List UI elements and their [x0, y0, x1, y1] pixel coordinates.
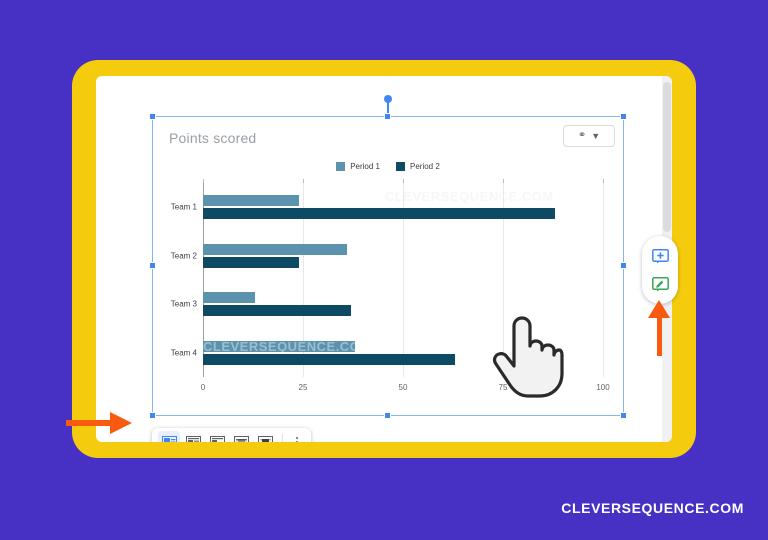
bar-1-series-1 [203, 195, 299, 206]
in-front-of-text-icon [258, 436, 273, 443]
behind-text-icon [234, 436, 249, 443]
bar-group-2: Team 2 [203, 232, 603, 281]
legend-label-1: Period 1 [350, 162, 380, 171]
rotate-handle[interactable] [384, 95, 392, 103]
x-axis-label-25: 25 [299, 383, 308, 392]
chart-title: Points scored [169, 130, 256, 146]
chart-legend: Period 1Period 2 [153, 162, 623, 171]
selection-handle-bottom-center[interactable] [384, 412, 391, 419]
x-axis-label-100: 100 [596, 383, 609, 392]
selection-handle-top-right[interactable] [620, 113, 627, 120]
annotation-arrow-right [644, 300, 674, 361]
scrollbar-thumb[interactable] [663, 82, 671, 232]
behind-text-button[interactable] [230, 431, 252, 442]
link-icon: ⚭ [578, 131, 586, 141]
add-comment-icon [652, 249, 669, 264]
suggest-edit-pencil-icon [652, 277, 669, 292]
selection-handle-bottom-right[interactable] [620, 412, 627, 419]
tick-mark-100 [603, 179, 604, 183]
bar-2-series-2 [203, 257, 299, 268]
y-axis-label-1: Team 1 [171, 203, 197, 212]
arrow-up-pointing-icon [644, 300, 674, 356]
toolbar-separator [282, 434, 283, 442]
break-text-icon [210, 436, 225, 443]
add-comment-button[interactable] [649, 245, 671, 267]
selection-handle-middle-right[interactable] [620, 262, 627, 269]
brand-watermark: CLEVERSEQUENCE.COM [561, 500, 744, 516]
annotation-arrow-left [66, 408, 134, 443]
side-action-buttons[interactable] [642, 236, 678, 304]
legend-item-1: Period 1 [336, 162, 380, 171]
selection-handle-top-center[interactable] [384, 113, 391, 120]
legend-swatch-1 [336, 162, 345, 171]
device-frame: Points scored ⚭ ▼ Period 1Period 2 CLEVE… [72, 60, 696, 458]
in-front-of-text-button[interactable] [254, 431, 276, 442]
y-axis-label-3: Team 3 [171, 300, 197, 309]
x-axis-label-50: 50 [399, 383, 408, 392]
bar-1-series-2 [203, 208, 555, 219]
wrap-text-button[interactable] [182, 431, 204, 442]
wrap-inline-button[interactable] [158, 431, 180, 442]
chevron-down-icon: ▼ [591, 132, 600, 141]
arrow-right-pointing-icon [66, 408, 134, 438]
more-image-options-button[interactable] [289, 431, 305, 442]
suggest-edit-button[interactable] [649, 273, 671, 295]
chart-watermark-bottom: CLEVERSEQUENCE.COM [203, 339, 372, 354]
selection-handle-top-left[interactable] [149, 113, 156, 120]
bar-3-series-1 [203, 292, 255, 303]
bar-2-series-1 [203, 244, 347, 255]
bar-3-series-2 [203, 305, 351, 316]
y-axis-label-4: Team 4 [171, 348, 197, 357]
wrap-text-icon [186, 436, 201, 443]
bar-group-1: Team 1 [203, 183, 603, 232]
legend-swatch-2 [396, 162, 405, 171]
selection-handle-bottom-left[interactable] [149, 412, 156, 419]
bar-4-series-2 [203, 354, 455, 365]
legend-label-2: Period 2 [410, 162, 440, 171]
pointing-hand-icon [492, 312, 564, 398]
hand-pointer-cursor [492, 312, 564, 403]
document-canvas[interactable]: Points scored ⚭ ▼ Period 1Period 2 CLEVE… [96, 76, 672, 442]
legend-item-2: Period 2 [396, 162, 440, 171]
chart-link-chip[interactable]: ⚭ ▼ [563, 125, 615, 147]
gridline-100 [603, 183, 604, 377]
image-options-toolbar[interactable] [152, 428, 311, 442]
selection-handle-middle-left[interactable] [149, 262, 156, 269]
break-text-button[interactable] [206, 431, 228, 442]
y-axis-label-2: Team 2 [171, 251, 197, 260]
x-axis-label-0: 0 [201, 383, 205, 392]
wrap-inline-icon [162, 436, 177, 443]
